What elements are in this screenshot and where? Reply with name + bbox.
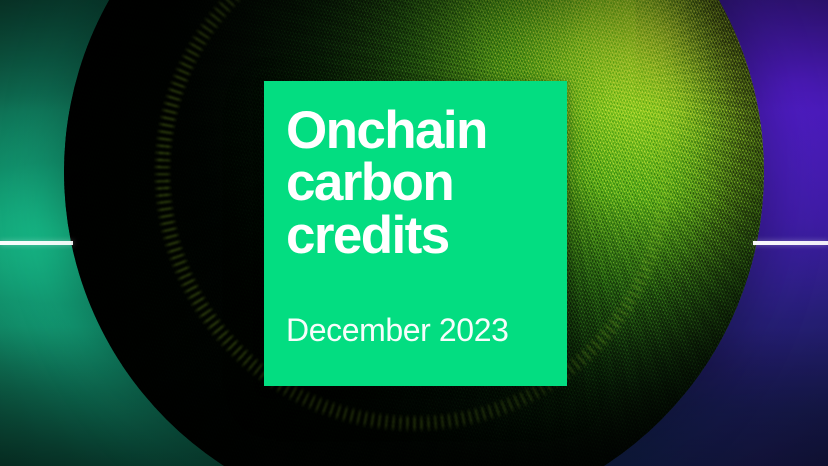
subtitle-date: December 2023 [286,314,545,368]
title-line-2: carbon [286,157,545,209]
title-line-3: credits [286,210,545,262]
title-card: Onchain carbon credits December 2023 [264,81,567,386]
right-accent-rule [753,241,828,245]
slide-canvas: Onchain carbon credits December 2023 [0,0,828,466]
page-title: Onchain carbon credits [286,105,545,262]
title-line-1: Onchain [286,105,545,157]
left-accent-rule [0,241,73,245]
